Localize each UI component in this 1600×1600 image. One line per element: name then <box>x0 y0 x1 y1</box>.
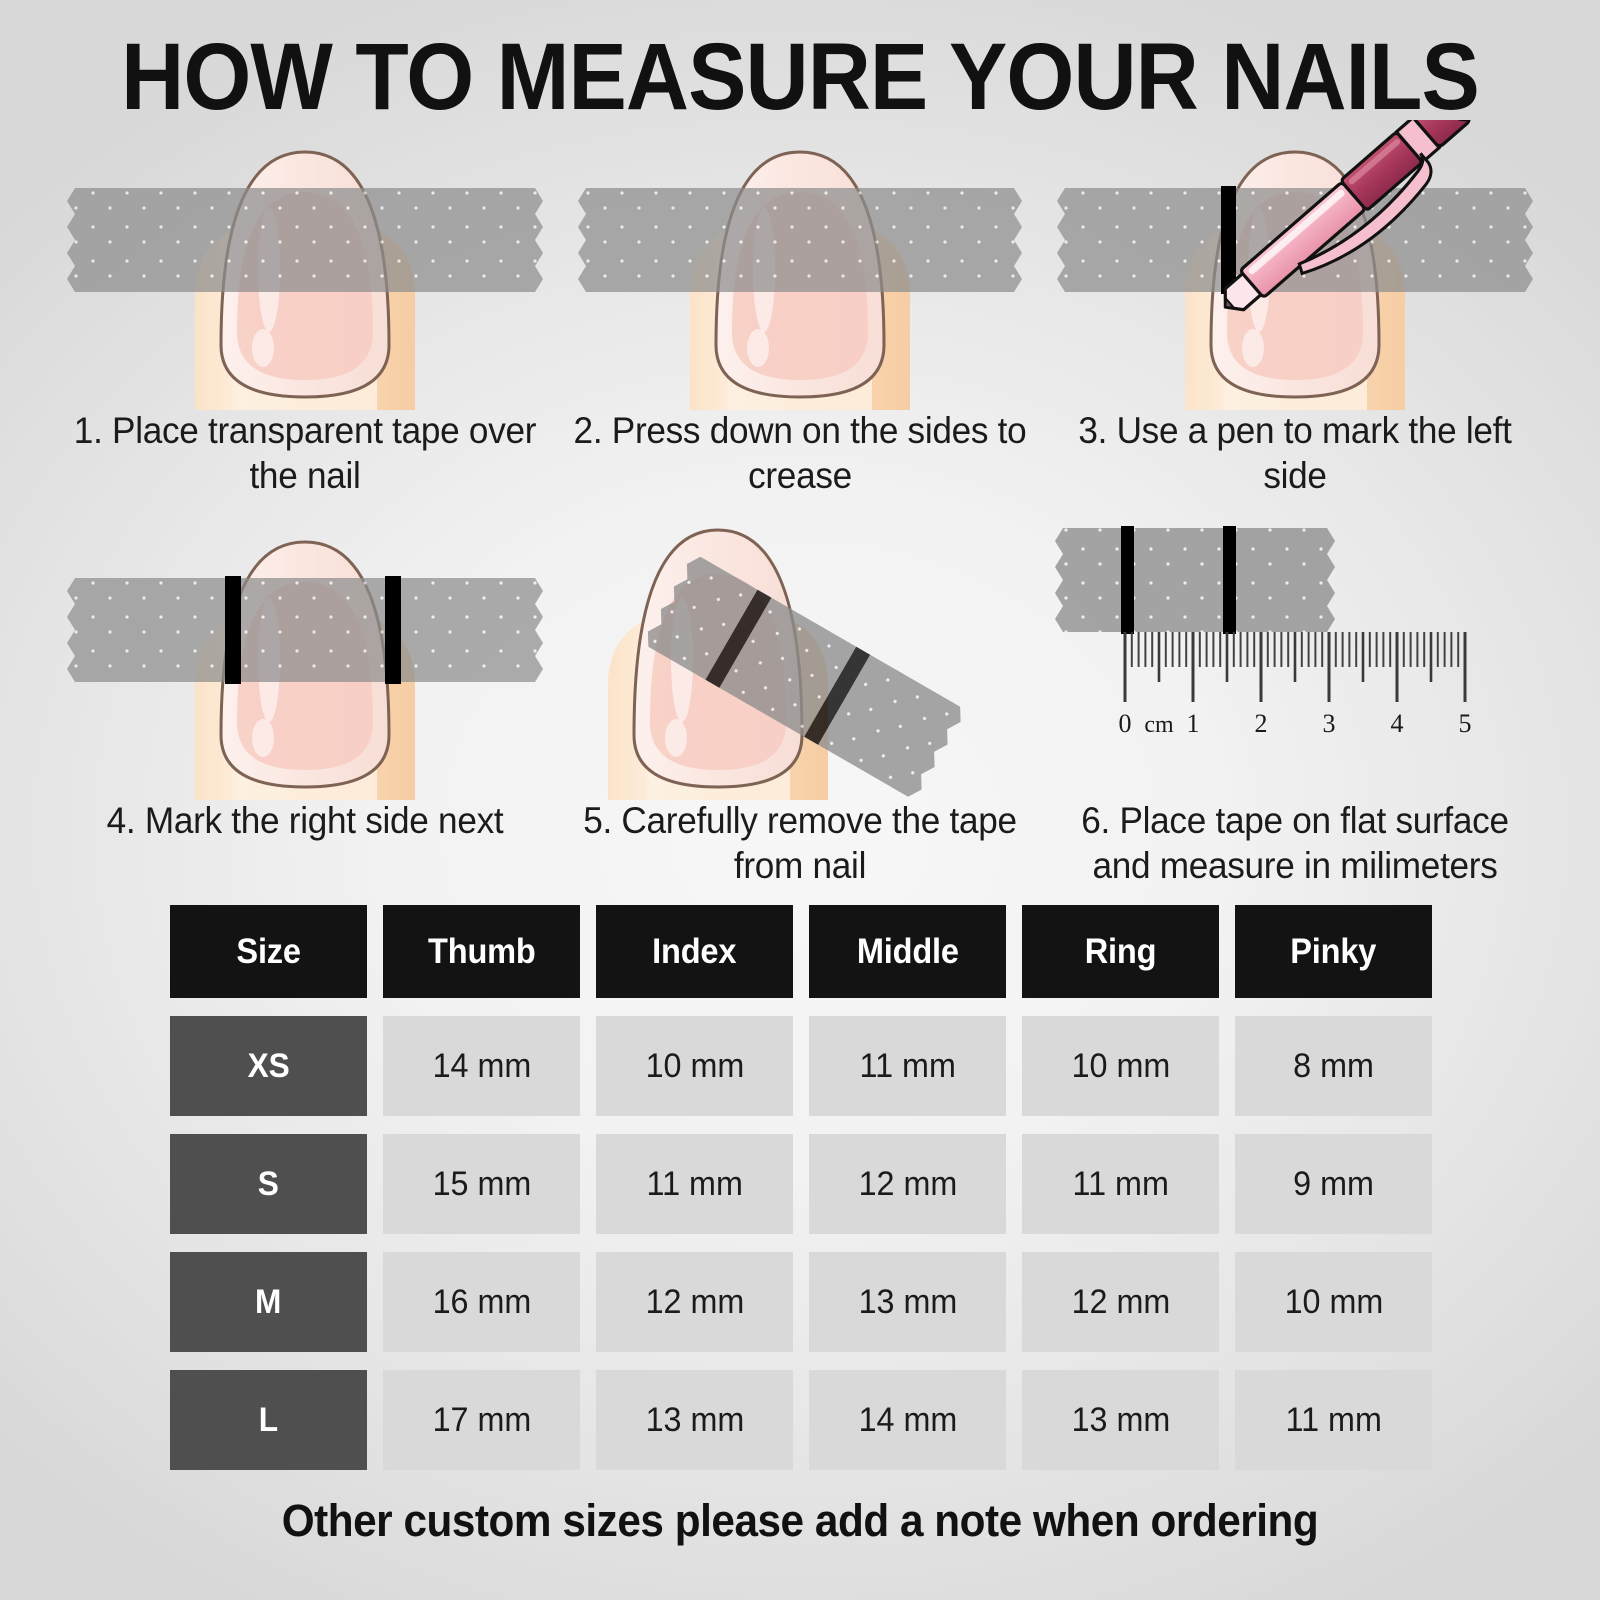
header-label: Size <box>236 932 300 972</box>
table-row-l-ring: 13 mm <box>1022 1370 1219 1470</box>
step-5-illustration <box>550 510 1050 800</box>
ruler-label-0: 0 <box>1119 709 1132 738</box>
ruler-label-1: 1 <box>1187 709 1200 738</box>
ruler <box>1125 632 1465 702</box>
ruler-label-3: 3 <box>1323 709 1336 738</box>
step-3-caption: 3. Use a pen to mark the left side <box>1058 408 1533 498</box>
steps-row-1: 1. Place transparent tape over the nail <box>0 120 1600 510</box>
step-5: 5. Carefully remove the tape from nail <box>550 510 1050 900</box>
step-2-illustration <box>550 120 1050 410</box>
table-row-l-pinky: 11 mm <box>1235 1370 1432 1470</box>
step-4-illustration <box>55 510 555 800</box>
header-label: Index <box>652 932 736 972</box>
table-header-middle: Middle <box>809 905 1006 998</box>
measured-tape <box>1055 528 1335 632</box>
header-label: Pinky <box>1291 932 1377 972</box>
table-row-s-index: 11 mm <box>596 1134 793 1234</box>
table-row-xs-index: 10 mm <box>596 1016 793 1116</box>
table-row-xs-pinky: 8 mm <box>1235 1016 1432 1116</box>
table-row-m-size: M <box>170 1252 367 1352</box>
ruler-unit: cm <box>1144 712 1174 738</box>
step-1: 1. Place transparent tape over the nail <box>55 120 555 510</box>
table-header-size: Size <box>170 905 367 998</box>
footer-note: Other custom sizes please add a note whe… <box>48 1495 1552 1547</box>
table-row-m-middle: 13 mm <box>809 1252 1006 1352</box>
ruler-label-2: 2 <box>1255 709 1268 738</box>
step-5-caption: 5. Carefully remove the tape from nail <box>563 798 1038 888</box>
header-label: Ring <box>1085 932 1157 972</box>
table-row-m-ring: 12 mm <box>1022 1252 1219 1352</box>
step-6: 0 cm 1 2 3 4 5 6. Place tape on flat sur… <box>1045 510 1545 900</box>
table-row-xs-size: XS <box>170 1016 367 1116</box>
page-title: HOW TO MEASURE YOUR NAILS <box>64 30 1536 125</box>
table-row-s-pinky: 9 mm <box>1235 1134 1432 1234</box>
right-mark <box>1223 526 1236 634</box>
table-row-s-thumb: 15 mm <box>383 1134 580 1234</box>
step-4: 4. Mark the right side next <box>55 510 555 900</box>
table-header-ring: Ring <box>1022 905 1219 998</box>
table-row-l-size: L <box>170 1370 367 1470</box>
step-6-illustration: 0 cm 1 2 3 4 5 <box>1045 510 1545 800</box>
header-label: Middle <box>857 932 959 972</box>
step-1-illustration <box>55 120 555 410</box>
step-3-illustration <box>1045 120 1545 410</box>
table-header-thumb: Thumb <box>383 905 580 998</box>
table-row-s-middle: 12 mm <box>809 1134 1006 1234</box>
ruler-label-5: 5 <box>1459 709 1472 738</box>
step-1-caption: 1. Place transparent tape over the nail <box>68 408 543 498</box>
step-2-caption: 2. Press down on the sides to crease <box>563 408 1038 498</box>
table-row-m-thumb: 16 mm <box>383 1252 580 1352</box>
right-mark <box>385 576 401 684</box>
header-label: Thumb <box>428 932 536 972</box>
steps-row-2: 4. Mark the right side next <box>0 510 1600 900</box>
table-row-l-index: 13 mm <box>596 1370 793 1470</box>
table-row-xs-thumb: 14 mm <box>383 1016 580 1116</box>
table-row-s-size: S <box>170 1134 367 1234</box>
table-row-l-middle: 14 mm <box>809 1370 1006 1470</box>
steps-section: 1. Place transparent tape over the nail <box>0 120 1600 900</box>
step-4-caption: 4. Mark the right side next <box>68 798 543 843</box>
left-mark <box>1121 526 1134 634</box>
table-row-m-pinky: 10 mm <box>1235 1252 1432 1352</box>
step-2: 2. Press down on the sides to crease <box>550 120 1050 510</box>
step-3: 3. Use a pen to mark the left side <box>1045 120 1545 510</box>
left-mark <box>225 576 241 684</box>
left-mark <box>1221 186 1236 294</box>
step-6-caption: 6. Place tape on flat surface and measur… <box>1058 798 1533 888</box>
table-row-xs-middle: 11 mm <box>809 1016 1006 1116</box>
table-row-s-ring: 11 mm <box>1022 1134 1219 1234</box>
size-table: Size Thumb Index Middle Ring Pinky XS 14… <box>170 905 1432 1470</box>
table-row-l-thumb: 17 mm <box>383 1370 580 1470</box>
table-header-pinky: Pinky <box>1235 905 1432 998</box>
table-header-index: Index <box>596 905 793 998</box>
table-row-xs-ring: 10 mm <box>1022 1016 1219 1116</box>
table-row-m-index: 12 mm <box>596 1252 793 1352</box>
ruler-label-4: 4 <box>1391 709 1404 738</box>
